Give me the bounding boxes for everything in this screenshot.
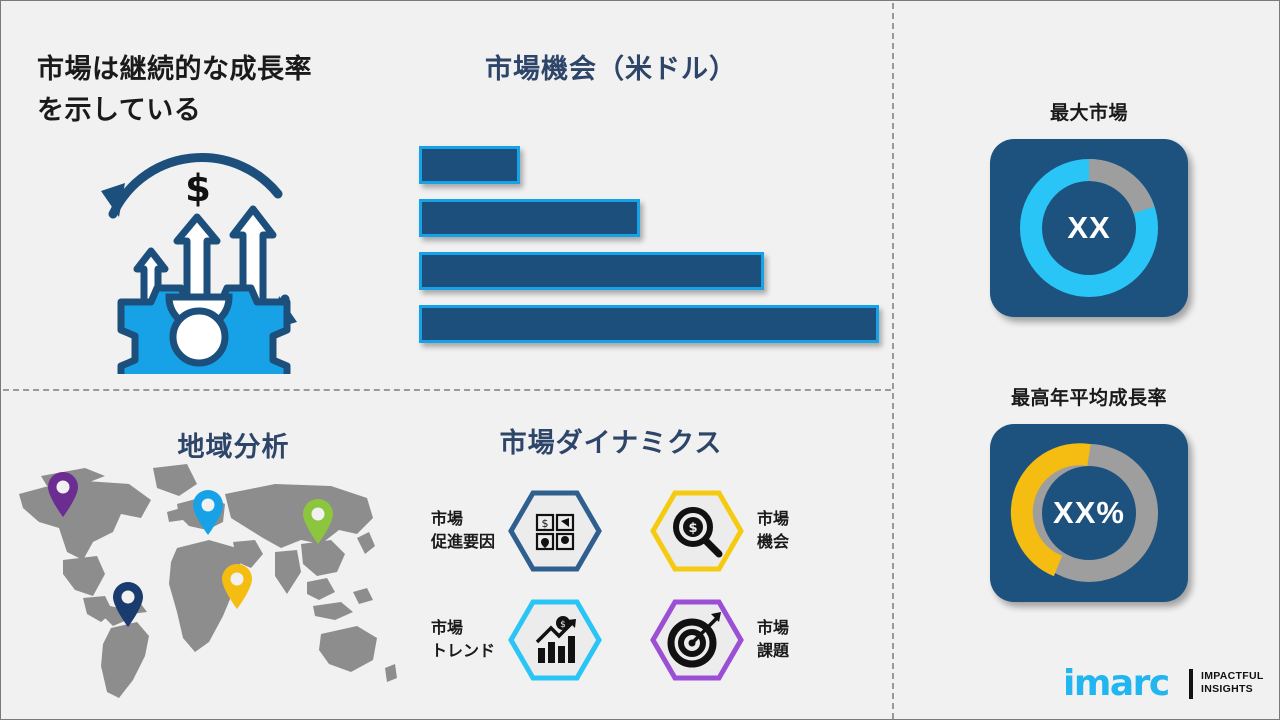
dynamics-item-drivers[interactable]: 市場 促進要因 $	[413, 489, 603, 573]
bar-row	[419, 146, 879, 184]
highest-cagr-value: XX%	[990, 424, 1188, 602]
largest-market-title: 最大市場	[969, 98, 1209, 125]
highest-cagr-title: 最高年平均成長率	[969, 383, 1209, 410]
bar-2	[419, 199, 640, 237]
dynamics-item-trends[interactable]: 市場 トレンド $	[413, 598, 603, 682]
bar-row	[419, 305, 879, 343]
growth-bar-chart-icon: $	[507, 598, 603, 682]
largest-market-card: XX	[990, 139, 1188, 317]
svg-text:$: $	[185, 167, 211, 210]
growth-gear-arrows-icon: $	[73, 139, 323, 374]
bar-1	[419, 146, 520, 184]
svg-text:$: $	[688, 521, 697, 536]
bar-3	[419, 252, 764, 290]
magnifier-dollar-icon: $	[649, 489, 745, 573]
vertical-divider	[892, 3, 894, 719]
dynamics-item-challenges[interactable]: 市場 課題	[649, 598, 839, 682]
growth-statement-title: 市場は継続的な成長率 を示している	[37, 49, 377, 131]
puzzle-pieces-icon: $	[507, 489, 603, 573]
map-pin-middle-east[interactable]	[220, 563, 254, 609]
dynamics-label-trends: 市場 トレンド	[431, 617, 495, 663]
logo-divider	[1189, 669, 1193, 699]
largest-market-value: XX	[990, 139, 1188, 317]
map-pin-north-america[interactable]	[46, 471, 80, 517]
bar-4	[419, 305, 879, 343]
map-pin-south-america[interactable]	[111, 581, 145, 627]
imarc-wordmark: imarc	[1063, 663, 1169, 704]
dynamics-label-drivers: 市場 促進要因	[431, 508, 495, 554]
map-pin-europe[interactable]	[191, 489, 225, 535]
highest-cagr-card: XX%	[990, 424, 1188, 602]
bar-row	[419, 252, 879, 290]
opportunity-bar-chart	[419, 146, 879, 361]
dynamics-label-challenges: 市場 課題	[757, 617, 789, 663]
bar-row	[419, 199, 879, 237]
slide-canvas: 市場は継続的な成長率 を示している $ 市場機会（米ドル）	[0, 0, 1280, 720]
horizontal-divider	[3, 389, 891, 391]
svg-text:$: $	[542, 517, 549, 530]
dynamics-label-opportunity: 市場 機会	[757, 508, 789, 554]
dynamics-item-opportunity[interactable]: $ 市場 機会	[649, 489, 839, 573]
imarc-logo: imarc IMPACTFUL INSIGHTS	[1063, 657, 1263, 705]
target-arrow-icon	[649, 598, 745, 682]
map-pin-east-asia[interactable]	[301, 498, 335, 544]
svg-text:$: $	[560, 620, 566, 630]
opportunity-chart-title: 市場機会（米ドル）	[401, 47, 821, 86]
dynamics-title: 市場ダイナミクス	[401, 421, 821, 460]
imarc-tagline: IMPACTFUL INSIGHTS	[1201, 670, 1264, 696]
